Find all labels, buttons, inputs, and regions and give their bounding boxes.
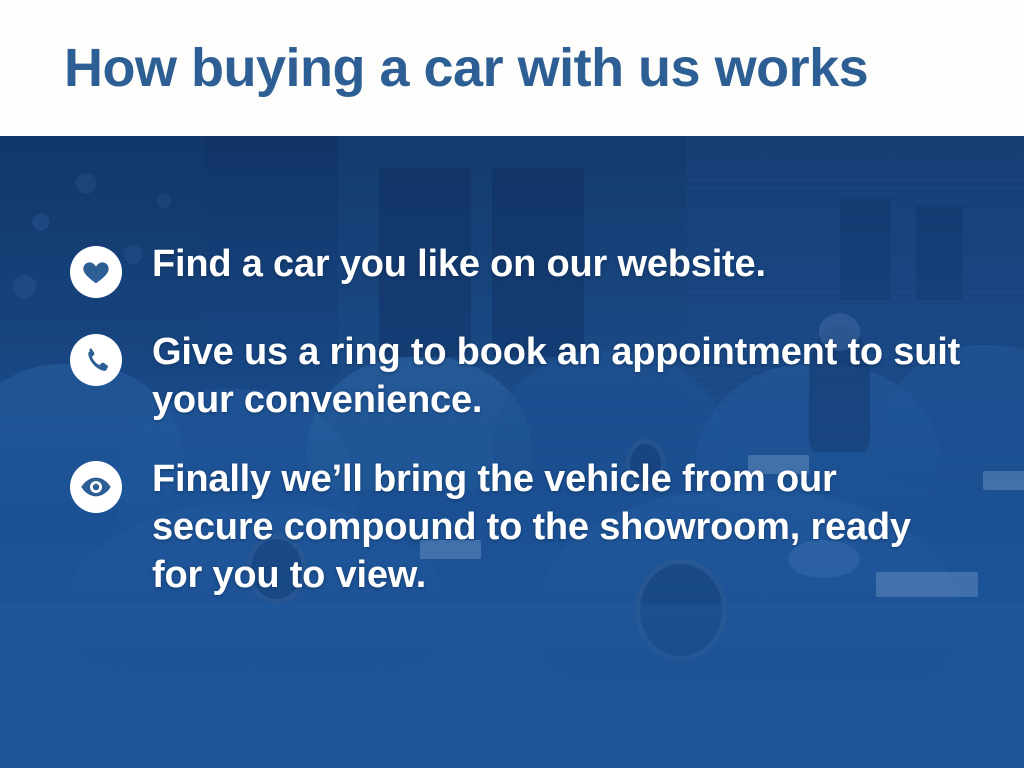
eye-icon xyxy=(70,461,122,513)
slide-header: How buying a car with us works xyxy=(0,0,1024,136)
background-photo: Find a car you like on our website. Give… xyxy=(0,136,1024,768)
phone-icon xyxy=(70,334,122,386)
list-item-label: Finally we’ll bring the vehicle from our… xyxy=(152,455,962,600)
heart-icon xyxy=(70,246,122,298)
list-item: Find a car you like on our website. xyxy=(70,240,964,298)
list-item-label: Find a car you like on our website. xyxy=(152,240,766,288)
steps-list: Find a car you like on our website. Give… xyxy=(0,136,1024,768)
list-item-label: Give us a ring to book an appointment to… xyxy=(152,328,962,425)
list-item: Give us a ring to book an appointment to… xyxy=(70,328,964,425)
page-title: How buying a car with us works xyxy=(64,41,868,95)
list-item: Finally we’ll bring the vehicle from our… xyxy=(70,455,964,600)
slide: How buying a car with us works xyxy=(0,0,1024,768)
